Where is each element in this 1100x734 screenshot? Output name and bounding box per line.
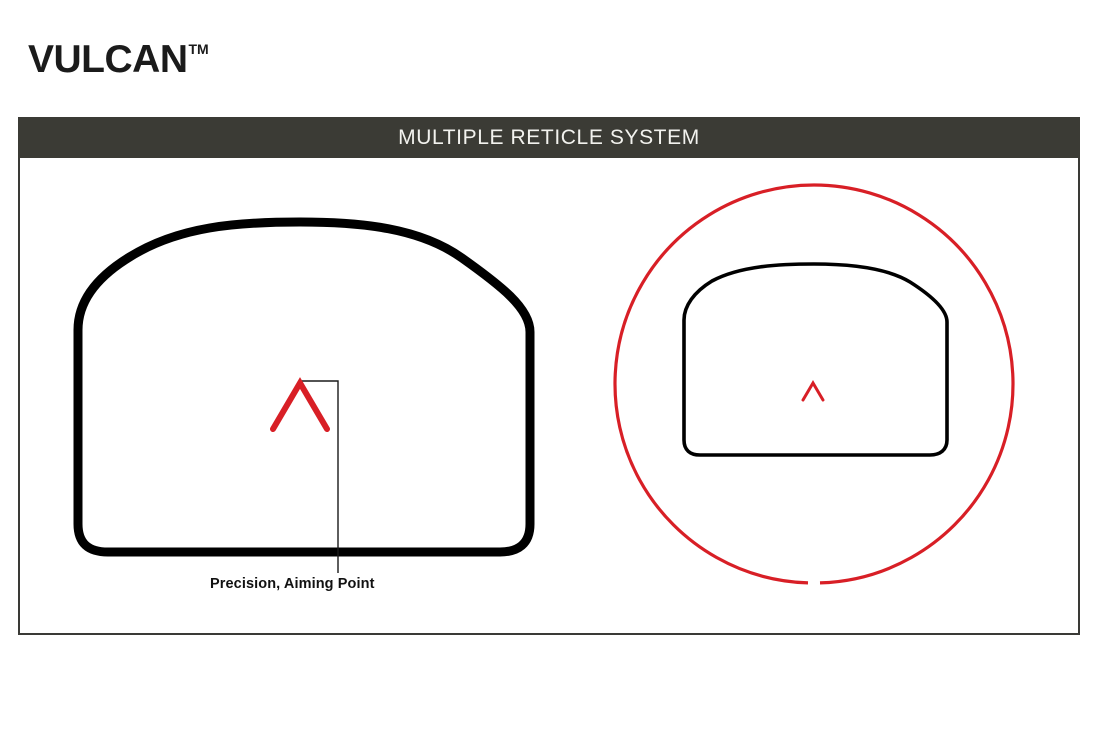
reticle-panel bbox=[18, 117, 1080, 635]
diagram-stage: VULCAN TM MULTIPLE RETICLE SYSTEM bbox=[0, 0, 1100, 734]
brand-wordmark: VULCAN TM bbox=[28, 40, 209, 79]
precision-aiming-point-label: Precision, Aiming Point bbox=[210, 576, 375, 592]
trademark-symbol: TM bbox=[189, 42, 209, 56]
brand-name: VULCAN bbox=[28, 40, 188, 79]
panel-header-bar: MULTIPLE RETICLE SYSTEM bbox=[18, 117, 1080, 158]
panel-title: MULTIPLE RETICLE SYSTEM bbox=[398, 126, 700, 150]
